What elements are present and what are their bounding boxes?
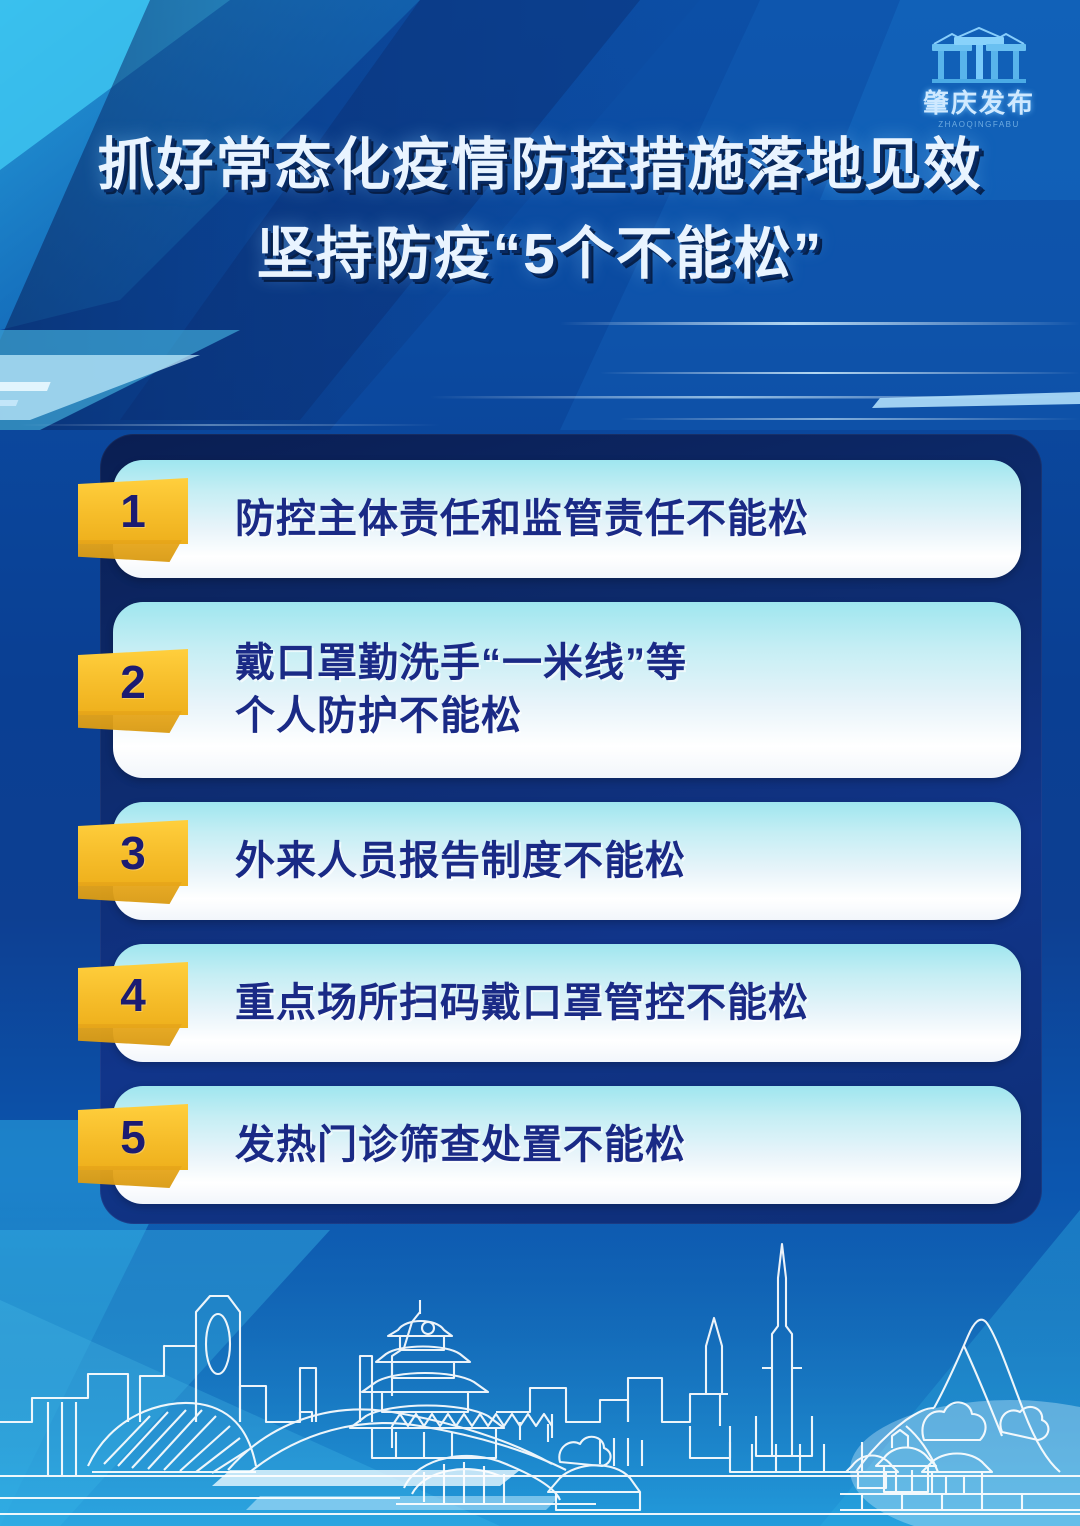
- page-title: 抓好常态化疫情防控措施落地见效 坚持防疫“5个不能松”: [0, 132, 1080, 289]
- measure-text-line: 重点场所扫码戴口罩管控不能松: [235, 977, 809, 1030]
- measure-text: 外来人员报告制度不能松: [235, 835, 686, 888]
- logo-name-en: ZHAOQINGFABU: [904, 120, 1054, 129]
- poster-root: 肇庆发布 ZHAOQINGFABU 抓好常态化疫情防控措施落地见效 坚持防疫“5…: [0, 0, 1080, 1526]
- measure-card: 3外来人员报告制度不能松: [113, 802, 1021, 920]
- badge-number: 4: [78, 962, 188, 1028]
- measure-text: 戴口罩勤洗手“一米线”等个人防护不能松: [235, 637, 687, 743]
- headline-line-2: 坚持防疫“5个不能松”: [0, 221, 1080, 288]
- badge-number: 3: [78, 820, 188, 886]
- measure-text-line: 外来人员报告制度不能松: [235, 835, 686, 888]
- measures-panel: 1防控主体责任和监管责任不能松2戴口罩勤洗手“一米线”等个人防护不能松3外来人员…: [100, 434, 1042, 1224]
- measure-card: 2戴口罩勤洗手“一米线”等个人防护不能松: [113, 602, 1021, 778]
- number-badge: 3: [78, 820, 188, 902]
- measure-card: 4重点场所扫码戴口罩管控不能松: [113, 944, 1021, 1062]
- badge-number: 2: [78, 649, 188, 715]
- number-badge: 4: [78, 962, 188, 1044]
- list-item: 4重点场所扫码戴口罩管控不能松: [113, 944, 1021, 1062]
- list-item: 1防控主体责任和监管责任不能松: [113, 460, 1021, 578]
- measures-list: 1防控主体责任和监管责任不能松2戴口罩勤洗手“一米线”等个人防护不能松3外来人员…: [100, 434, 1042, 1224]
- measure-text: 防控主体责任和监管责任不能松: [235, 493, 809, 546]
- list-item: 5发热门诊筛查处置不能松: [113, 1086, 1021, 1204]
- measure-text: 发热门诊筛查处置不能松: [235, 1119, 686, 1172]
- measure-text: 重点场所扫码戴口罩管控不能松: [235, 977, 809, 1030]
- list-item: 2戴口罩勤洗手“一米线”等个人防护不能松: [113, 602, 1021, 778]
- list-item: 3外来人员报告制度不能松: [113, 802, 1021, 920]
- measure-card: 1防控主体责任和监管责任不能松: [113, 460, 1021, 578]
- measure-text-line: 戴口罩勤洗手“一米线”等: [235, 637, 687, 690]
- archway-gate-icon: [924, 22, 1034, 88]
- measure-text-line: 防控主体责任和监管责任不能松: [235, 493, 809, 546]
- badge-number: 5: [78, 1104, 188, 1170]
- brand-logo: 肇庆发布 ZHAOQINGFABU: [904, 22, 1054, 134]
- number-badge: 5: [78, 1104, 188, 1186]
- measure-card: 5发热门诊筛查处置不能松: [113, 1086, 1021, 1204]
- measure-text-line: 发热门诊筛查处置不能松: [235, 1119, 686, 1172]
- measure-text-line: 个人防护不能松: [235, 690, 687, 743]
- headline-line-1: 抓好常态化疫情防控措施落地见效: [0, 132, 1080, 199]
- logo-name-cn: 肇庆发布: [904, 90, 1054, 116]
- badge-number: 1: [78, 478, 188, 544]
- number-badge: 2: [78, 649, 188, 731]
- number-badge: 1: [78, 478, 188, 560]
